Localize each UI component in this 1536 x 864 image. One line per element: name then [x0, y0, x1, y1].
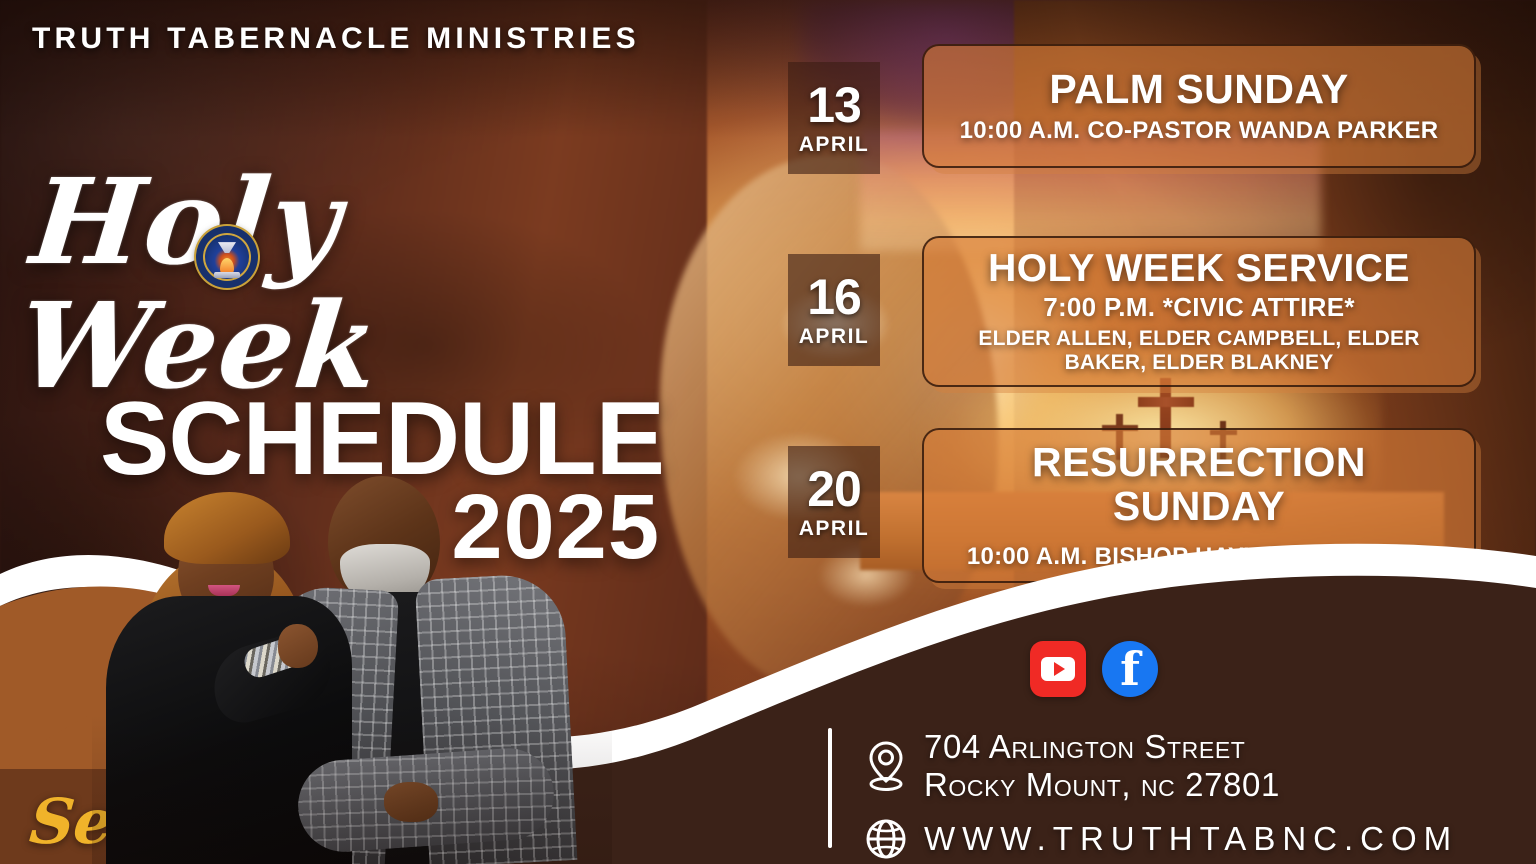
date-day: 13 [807, 80, 861, 130]
date-month: APRIL [799, 325, 870, 349]
social-links: f [1030, 641, 1158, 697]
senior-leaders-photo [92, 414, 612, 864]
photo-shadow [92, 714, 612, 864]
church-seal-emblem-icon [196, 226, 258, 288]
woman-hair-front [164, 492, 290, 564]
address-line: 704 Arlington Street Rocky Mount, nc 278… [864, 728, 1458, 805]
contact-divider [828, 728, 832, 848]
date-day: 16 [807, 272, 861, 322]
event-title: RESURRECTION SUNDAY [942, 440, 1456, 529]
facebook-letter: f [1102, 646, 1158, 692]
event-subtitle: 7:00 P.M. *CIVIC ATTIRE* [1043, 292, 1355, 323]
globe-icon [864, 817, 908, 861]
event-title: HOLY WEEK SERVICE [988, 248, 1410, 290]
event-row: 13 APRIL PALM SUNDAY 10:00 A.M. CO-PASTO… [788, 44, 1478, 192]
date-month: APRIL [799, 133, 870, 157]
location-pin-icon [864, 739, 908, 793]
address-line-1: 704 Arlington Street [924, 728, 1280, 766]
youtube-icon[interactable] [1030, 641, 1086, 697]
woman-hand [278, 624, 318, 668]
date-badge: 13 APRIL [788, 62, 880, 174]
holy-week-flyer: TRUTH TABERNACLE MINISTRIES Holy Week SC… [0, 0, 1536, 864]
ministry-name: TRUTH TABERNACLE MINISTRIES [32, 22, 640, 56]
contact-block: 704 Arlington Street Rocky Mount, nc 278… [828, 728, 1458, 861]
website-url: WWW.TRUTHTABNC.COM [924, 820, 1458, 858]
address-line-2: Rocky Mount, nc 27801 [924, 766, 1280, 804]
event-row: 16 APRIL HOLY WEEK SERVICE 7:00 P.M. *CI… [788, 236, 1478, 384]
event-card[interactable]: HOLY WEEK SERVICE 7:00 P.M. *CIVIC ATTIR… [922, 236, 1476, 387]
event-subtitle: 10:00 A.M. CO-PASTOR WANDA PARKER [960, 117, 1439, 145]
event-subtitle-secondary: ELDER ALLEN, ELDER CAMPBELL, ELDER BAKER… [942, 327, 1456, 375]
date-badge: 16 APRIL [788, 254, 880, 366]
website-line[interactable]: WWW.TRUTHTABNC.COM [864, 817, 1458, 861]
facebook-icon[interactable]: f [1102, 641, 1158, 697]
event-title: PALM SUNDAY [1049, 67, 1348, 111]
date-day: 20 [807, 464, 861, 514]
event-card[interactable]: PALM SUNDAY 10:00 A.M. CO-PASTOR WANDA P… [922, 44, 1476, 168]
title-script-line: Holy Week [13, 160, 739, 408]
